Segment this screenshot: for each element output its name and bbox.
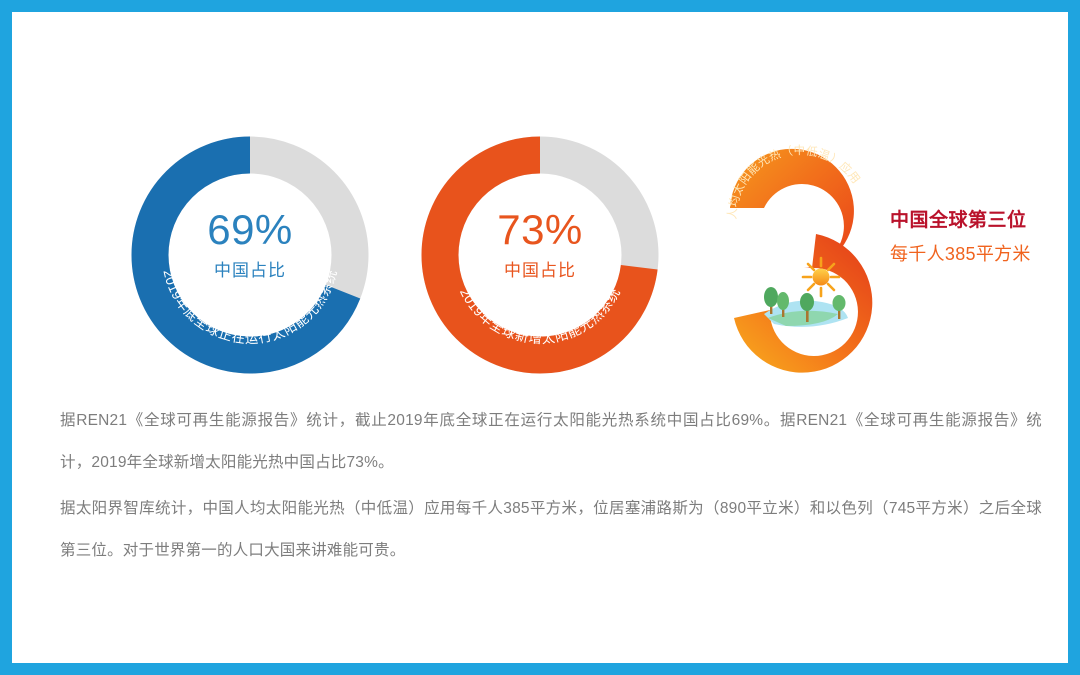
paragraph-1: 据REN21《全球可再生能源报告》统计，截止2019年底全球正在运行太阳能光热系…	[60, 400, 1042, 484]
infographic-page: 2019年底全球正在运行太阳能光热系统 69% 中国占比 20	[0, 0, 1080, 675]
paragraph-2: 据太阳界智库统计，中国人均太阳能光热（中低温）应用每千人385平方米，位居塞浦路…	[60, 488, 1042, 572]
rank-value: 每千人385平方米	[890, 240, 1065, 266]
sun-icon	[803, 258, 839, 296]
body-copy: 据REN21《全球可再生能源报告》统计，截止2019年底全球正在运行太阳能光热系…	[60, 400, 1042, 572]
donut-chart-new: 2019年全球新增太阳能光热系统 73% 中国占比	[415, 130, 665, 380]
rank-three-block: 人均太阳能光热（中低温）应用 中国全球第三位 每千人385平方米	[712, 122, 1068, 382]
rank-labels: 中国全球第三位 每千人385平方米	[890, 208, 1065, 266]
numeral-three-graphic: 人均太阳能光热（中低温）应用	[712, 122, 912, 382]
rank-title: 中国全球第三位	[890, 208, 1065, 234]
donut-operating-svg: 2019年底全球正在运行太阳能光热系统	[125, 130, 375, 380]
donut-chart-operating: 2019年底全球正在运行太阳能光热系统 69% 中国占比	[125, 130, 375, 380]
charts-row: 2019年底全球正在运行太阳能光热系统 69% 中国占比 20	[12, 12, 1068, 382]
donut-new-svg: 2019年全球新增太阳能光热系统	[415, 130, 665, 380]
content-canvas: 2019年底全球正在运行太阳能光热系统 69% 中国占比 20	[12, 12, 1068, 663]
